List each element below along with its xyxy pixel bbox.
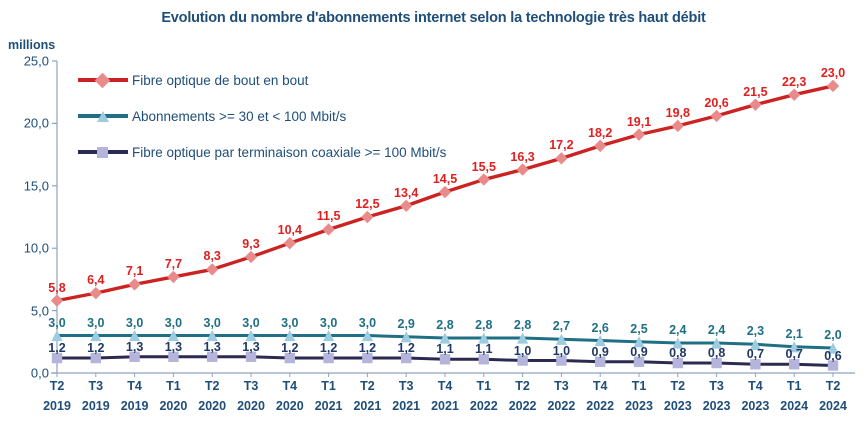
data-label: 23,0 — [821, 66, 845, 80]
x-axis-year-label: 2022 — [470, 399, 498, 413]
x-axis-quarter-label: T1 — [166, 379, 181, 393]
x-axis-quarter-label: T4 — [748, 379, 763, 393]
data-label: 1,2 — [48, 341, 65, 355]
x-axis-quarter-label: T2 — [50, 379, 65, 393]
x-axis-quarter-label: T2 — [515, 379, 530, 393]
data-label: 1,2 — [87, 341, 104, 355]
x-axis-quarter-label: T2 — [826, 379, 841, 393]
data-label: 0,9 — [591, 345, 608, 359]
x-axis-quarter-label: T4 — [283, 379, 298, 393]
data-label: 0,9 — [630, 345, 647, 359]
data-label: 1,3 — [126, 340, 143, 354]
x-axis-year-label: 2022 — [509, 399, 537, 413]
x-axis-year-label: 2020 — [276, 399, 304, 413]
data-label: 1,2 — [359, 341, 376, 355]
data-label: 13,4 — [394, 186, 418, 200]
data-label: 3,0 — [359, 316, 376, 330]
legend-label-fibre-coaxiale: Fibre optique par terminaison coaxiale >… — [132, 145, 446, 160]
data-label: 3,0 — [203, 316, 220, 330]
data-label: 0,8 — [708, 346, 725, 360]
data-label: 3,0 — [87, 316, 104, 330]
legend-item-fibre-coaxiale[interactable]: Fibre optique par terminaison coaxiale >… — [78, 134, 446, 170]
data-label: 14,5 — [433, 172, 457, 186]
x-axis-quarter-label: T3 — [244, 379, 259, 393]
x-axis-year-label: 2022 — [586, 399, 614, 413]
data-label: 1,3 — [203, 340, 220, 354]
x-axis-year-label: 2020 — [159, 399, 187, 413]
x-axis-year-label: 2023 — [741, 399, 769, 413]
data-label: 1,0 — [514, 344, 531, 358]
data-label: 0,8 — [669, 346, 686, 360]
data-label: 22,3 — [782, 75, 806, 89]
y-axis-tick-label: 20,0 — [5, 116, 49, 131]
x-axis-year-label: 2021 — [315, 399, 343, 413]
x-axis-quarter-label: T2 — [205, 379, 220, 393]
x-axis-quarter-label: T2 — [671, 379, 686, 393]
x-axis-year-label: 2021 — [353, 399, 381, 413]
data-label: 1,0 — [553, 344, 570, 358]
y-axis-tick-label: 25,0 — [5, 54, 49, 69]
data-label: 1,2 — [397, 341, 414, 355]
data-label: 1,2 — [320, 341, 337, 355]
data-label: 3,0 — [126, 316, 143, 330]
data-label: 15,5 — [472, 160, 496, 174]
data-label: 1,1 — [436, 342, 453, 356]
x-axis-year-label: 2024 — [819, 399, 847, 413]
chart-page: Evolution du nombre d'abonnements intern… — [0, 0, 867, 439]
x-axis-year-label: 2022 — [547, 399, 575, 413]
data-label: 1,3 — [165, 340, 182, 354]
y-axis-tick-label: 5,0 — [5, 303, 49, 318]
x-axis-quarter-label: T3 — [709, 379, 724, 393]
x-axis-quarter-label: T4 — [438, 379, 453, 393]
data-label: 18,2 — [588, 126, 612, 140]
y-axis-tick-label: 10,0 — [5, 241, 49, 256]
x-axis-quarter-label: T3 — [399, 379, 414, 393]
x-axis-quarter-label: T4 — [127, 379, 142, 393]
x-axis-year-label: 2019 — [82, 399, 110, 413]
x-axis-year-label: 2019 — [43, 399, 71, 413]
x-axis-quarter-label: T1 — [477, 379, 492, 393]
data-label: 2,8 — [514, 318, 531, 332]
data-label: 21,5 — [743, 85, 767, 99]
data-label: 3,0 — [48, 316, 65, 330]
data-label: 2,5 — [630, 322, 647, 336]
legend-swatch-teal — [78, 109, 128, 123]
data-label: 2,6 — [591, 321, 608, 335]
data-label: 2,8 — [436, 318, 453, 332]
x-axis-year-label: 2021 — [431, 399, 459, 413]
x-axis-quarter-label: T1 — [321, 379, 336, 393]
data-label: 3,0 — [242, 316, 259, 330]
x-axis-year-label: 2020 — [237, 399, 265, 413]
x-axis-year-label: 2024 — [780, 399, 808, 413]
data-label: 1,3 — [242, 340, 259, 354]
data-label: 11,5 — [317, 209, 341, 223]
data-label: 2,4 — [708, 323, 725, 337]
x-axis-year-label: 2023 — [703, 399, 731, 413]
x-axis-year-label: 2021 — [392, 399, 420, 413]
data-label: 19,8 — [666, 106, 690, 120]
data-label: 0,7 — [747, 347, 764, 361]
legend-swatch-red — [78, 73, 128, 87]
data-label: 2,7 — [553, 319, 570, 333]
x-axis-quarter-label: T1 — [787, 379, 802, 393]
data-label: 16,3 — [510, 150, 534, 164]
legend-swatch-navy — [78, 145, 128, 159]
data-label: 1,1 — [475, 342, 492, 356]
data-label: 3,0 — [281, 316, 298, 330]
data-label: 20,6 — [704, 96, 728, 110]
x-axis-year-label: 2020 — [198, 399, 226, 413]
data-label: 2,4 — [669, 323, 686, 337]
data-label: 1,2 — [281, 341, 298, 355]
x-axis-quarter-label: T3 — [89, 379, 104, 393]
x-axis-quarter-label: T4 — [593, 379, 608, 393]
legend-item-fibre-bout-en-bout[interactable]: Fibre optique de bout en bout — [78, 62, 446, 98]
x-axis-quarter-label: T2 — [360, 379, 375, 393]
data-label: 17,2 — [549, 138, 573, 152]
data-label: 3,0 — [165, 316, 182, 330]
data-label: 7,1 — [126, 264, 143, 278]
legend-label-fibre-bout-en-bout: Fibre optique de bout en bout — [132, 73, 308, 88]
y-axis-tick-label: 0,0 — [5, 366, 49, 381]
data-label: 0,7 — [785, 347, 802, 361]
x-axis-year-label: 2019 — [121, 399, 149, 413]
x-axis-quarter-label: T3 — [554, 379, 569, 393]
data-label: 2,8 — [475, 318, 492, 332]
data-label: 7,7 — [165, 257, 182, 271]
x-axis-year-label: 2023 — [664, 399, 692, 413]
data-label: 2,3 — [747, 324, 764, 338]
legend-label-abonnements-30-100: Abonnements >= 30 et < 100 Mbit/s — [132, 109, 346, 124]
data-label: 5,8 — [48, 281, 65, 295]
data-label: 2,0 — [824, 328, 841, 342]
data-label: 2,9 — [397, 317, 414, 331]
data-label: 8,3 — [203, 249, 220, 263]
legend-item-abonnements-30-100[interactable]: Abonnements >= 30 et < 100 Mbit/s — [78, 98, 446, 134]
chart-legend: Fibre optique de bout en bout Abonnement… — [78, 62, 446, 170]
data-label: 9,3 — [242, 237, 259, 251]
data-label: 12,5 — [355, 197, 379, 211]
data-label: 19,1 — [627, 115, 651, 129]
data-label: 6,4 — [87, 273, 104, 287]
y-axis-tick-label: 15,0 — [5, 178, 49, 193]
data-label: 3,0 — [320, 316, 337, 330]
x-axis-year-label: 2023 — [625, 399, 653, 413]
x-axis-quarter-label: T1 — [632, 379, 647, 393]
data-label: 10,4 — [278, 223, 302, 237]
data-label: 2,1 — [785, 327, 802, 341]
data-label: 0,6 — [824, 349, 841, 363]
